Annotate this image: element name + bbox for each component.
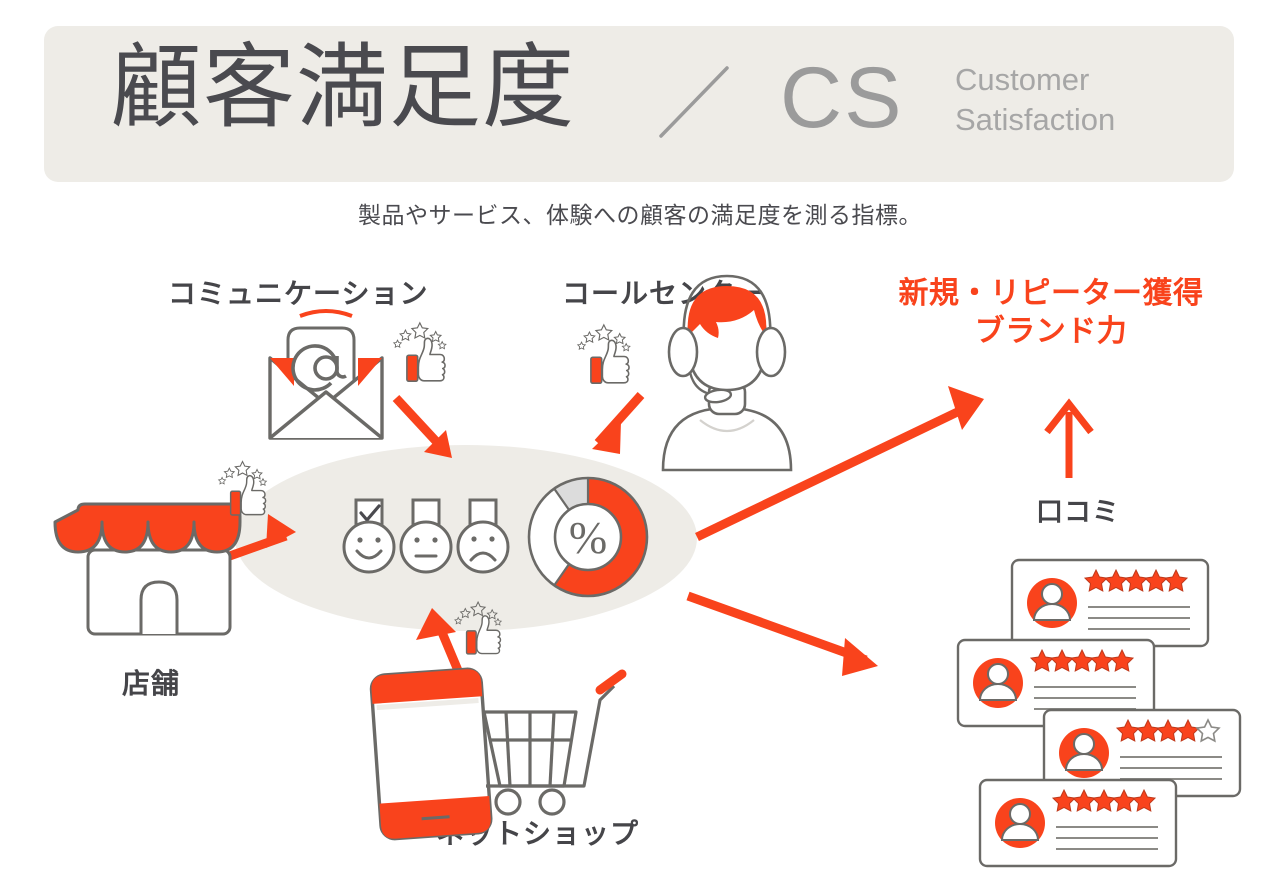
- shopping-cart-icon: [484, 674, 622, 814]
- call-center-operator-icon: [663, 276, 791, 470]
- diagram-illustration: %: [0, 0, 1280, 872]
- face-neutral-icon: [401, 522, 451, 572]
- review-cards-group: [958, 560, 1240, 866]
- donut-chart: %: [529, 478, 647, 596]
- arrow-callcenter-to-center: [592, 395, 641, 454]
- smartphone-icon: [371, 668, 492, 839]
- store-icon: [55, 504, 240, 634]
- infographic-canvas: 顧客満足度 CS Customer Satisfaction 製品やサービス、体…: [0, 0, 1280, 872]
- review-card-1: [1012, 560, 1208, 646]
- donut-center-label: %: [569, 512, 607, 563]
- arrow-reviews-to-outcome: [1047, 404, 1091, 478]
- envelope-icon: [270, 311, 382, 438]
- thumbs-up-icon-communication: [394, 323, 446, 381]
- thumbs-up-icon-callcenter: [578, 325, 630, 383]
- face-happy-icon: [344, 522, 394, 572]
- review-card-4: [980, 780, 1176, 866]
- face-sad-icon: [458, 522, 508, 572]
- arrow-center-to-reviews: [688, 596, 878, 676]
